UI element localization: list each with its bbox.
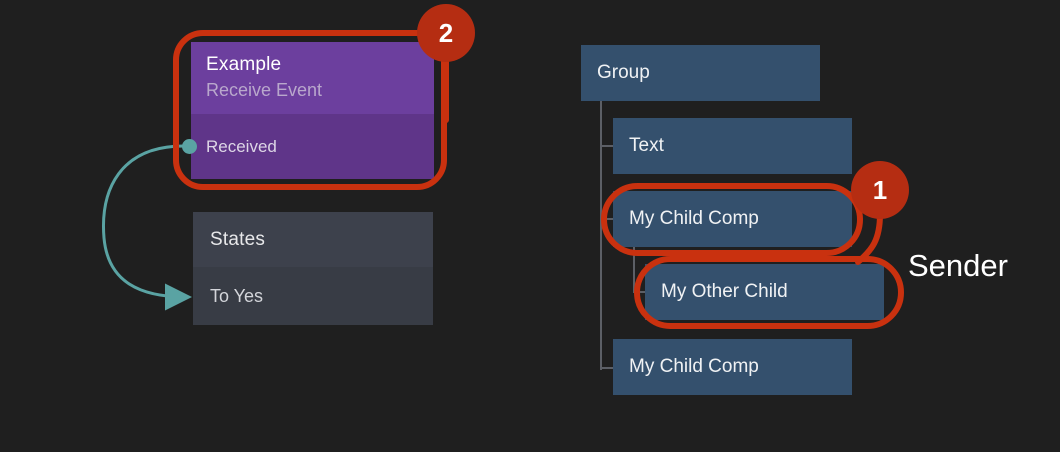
diagram-canvas: Example Receive Event Received States To… <box>0 0 1060 452</box>
tree-branch-tick-text <box>600 145 613 147</box>
tree-node-label: Group <box>597 62 650 84</box>
tree-branch-tick-child-comp-2 <box>600 367 613 369</box>
sender-annotation-label: Sender <box>908 248 1008 284</box>
tree-node-my-child-comp-2[interactable]: My Child Comp <box>613 339 852 395</box>
tree-node-label: My Child Comp <box>629 356 759 378</box>
states-node-body: To Yes <box>193 267 433 325</box>
annotation-ring-my-child-comp <box>601 183 863 256</box>
tree-trunk-line <box>600 101 602 370</box>
tree-node-group[interactable]: Group <box>581 45 820 101</box>
connector-layer <box>0 0 1060 452</box>
annotation-ring-my-other-child <box>634 256 904 329</box>
annotation-ring-event-node <box>173 30 447 190</box>
tree-node-label: Text <box>629 135 664 157</box>
badge-leader-layer <box>0 0 1060 452</box>
badge-number: 2 <box>439 18 453 49</box>
states-node-title: States <box>210 229 265 251</box>
states-node[interactable]: States To Yes <box>193 212 433 325</box>
tree-node-text[interactable]: Text <box>613 118 852 174</box>
states-node-header: States <box>193 212 433 267</box>
states-node-entry-label: To Yes <box>210 286 263 307</box>
annotation-badge-2: 2 <box>417 4 475 62</box>
annotation-badge-1: 1 <box>851 161 909 219</box>
badge-number: 1 <box>873 175 887 206</box>
